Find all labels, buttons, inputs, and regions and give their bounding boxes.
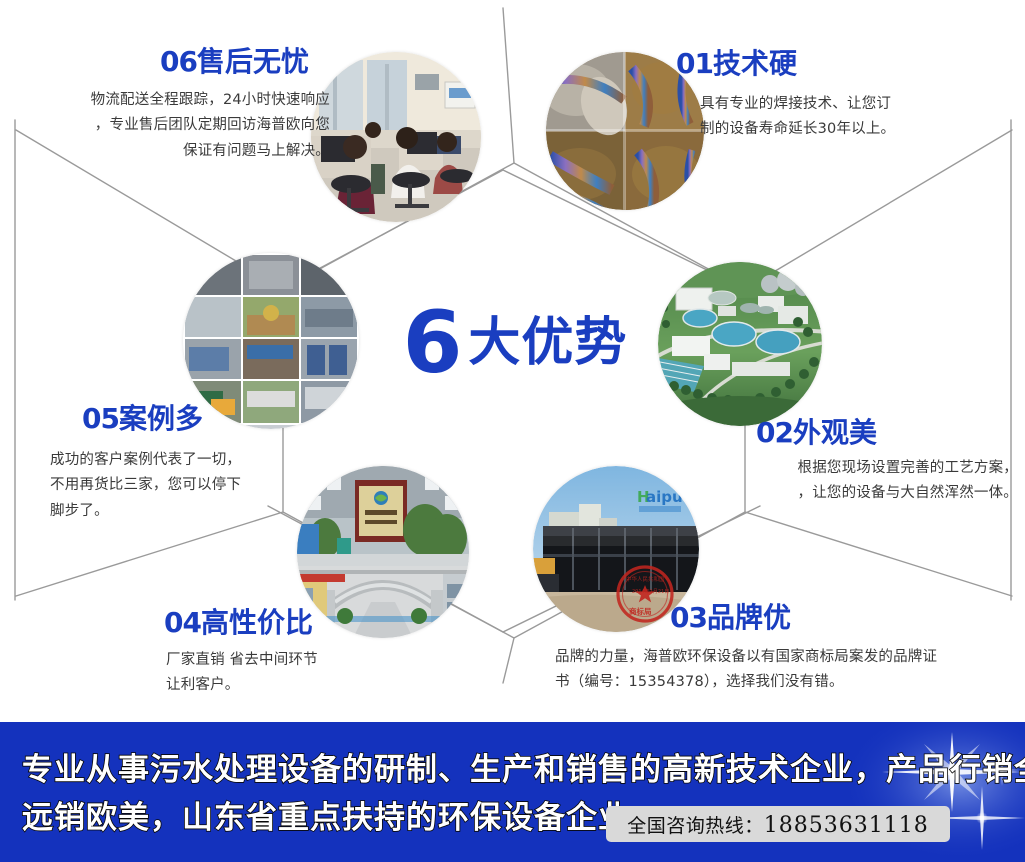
item-05-body-line: 不用再货比三家，您可以停下: [50, 473, 330, 498]
outer-edge-top-right: [745, 130, 1012, 289]
item-02-body-line: ，让您的设备与大自然浑然一体。: [700, 481, 1018, 506]
center-label: 大优势: [468, 317, 627, 369]
item-01-number: 01: [676, 47, 713, 80]
item-01-title: 01技术硬: [676, 50, 797, 78]
item-06-body: 物流配送全程跟踪，24小时快速响应 ，专业售后团队定期回访海普欧向您 保证有问题…: [10, 88, 330, 164]
photo-05-case-collage: [183, 253, 359, 429]
item-06-body-line: 保证有问题马上解决。: [10, 139, 330, 164]
item-03-body: 品牌的力量，海普欧环保设备以有国家商标局案发的品牌证 书（编号：15354378…: [555, 645, 1025, 696]
hotline-number: 18853631118: [764, 813, 929, 838]
item-02-body: 根据您现场设置完善的工艺方案， ，让您的设备与大自然浑然一体。: [700, 456, 1018, 507]
item-01-body: 具有专业的焊接技术、让您订 制的设备寿命延长30年以上。: [700, 92, 1020, 143]
hotline-box[interactable]: 全国咨询热线：18853631118: [606, 806, 950, 842]
photo-06-office: [311, 52, 481, 222]
item-04-body: 厂家直销 省去中间环节 让利客户。: [166, 648, 466, 699]
infographic-root: 6 大优势: [0, 0, 1025, 862]
item-04-label: 高性价比: [201, 606, 313, 639]
item-05-label: 案例多: [119, 402, 203, 435]
item-05-body-line: 成功的客户案例代表了一切，: [50, 448, 330, 473]
item-04-body-line: 让利客户。: [166, 673, 466, 698]
item-06-number: 06: [160, 45, 197, 78]
item-03-title: 03品牌优: [670, 604, 791, 632]
hotline-text: 全国咨询热线：18853631118: [627, 811, 928, 838]
center-headline: 6 大优势: [390, 288, 640, 398]
item-04-title: 04高性价比: [164, 609, 313, 637]
item-06-body-line: ，专业售后团队定期回访海普欧向您: [10, 113, 330, 138]
item-02-title: 02外观美: [756, 419, 877, 447]
outer-edge-bottom-right: [745, 512, 1012, 596]
item-02-body-line: 根据您现场设置完善的工艺方案，: [700, 456, 1018, 481]
item-01-body-line: 具有专业的焊接技术、让您订: [700, 92, 1020, 117]
item-06-title: 06售后无忧: [160, 48, 309, 76]
banner-line-1: 专业从事污水处理设备的研制、生产和销售的高新技术企业，产品行销全国并: [22, 746, 902, 794]
item-05-title: 05案例多: [82, 405, 203, 433]
outer-edge-bottom-left: [16, 512, 283, 596]
item-03-label: 品牌优: [707, 601, 791, 634]
item-03-number: 03: [670, 601, 707, 634]
item-06-label: 售后无忧: [197, 45, 309, 78]
svg-text:2014年1月21日: 2014年1月21日: [632, 588, 669, 595]
item-02-label: 外观美: [793, 416, 877, 449]
spoke-bottom: [503, 638, 514, 683]
svg-text:aipuou: aipuou: [646, 488, 699, 506]
hotline-label: 全国咨询热线：: [627, 815, 764, 837]
item-04-number: 04: [164, 606, 201, 639]
item-03-body-line: 品牌的力量，海普欧环保设备以有国家商标局案发的品牌证: [555, 645, 1025, 670]
item-06-body-line: 物流配送全程跟踪，24小时快速响应: [10, 88, 330, 113]
item-05-body-line: 脚步了。: [50, 499, 330, 524]
center-number: 6: [403, 300, 461, 386]
photo-04-factory-entrance: [297, 466, 469, 638]
svg-text:商标局: 商标局: [629, 606, 652, 616]
photo-02-aerial-plant: [658, 262, 822, 426]
item-01-label: 技术硬: [713, 47, 797, 80]
item-01-body-line: 制的设备寿命延长30年以上。: [700, 117, 1020, 142]
item-05-number: 05: [82, 402, 119, 435]
item-02-number: 02: [756, 416, 793, 449]
item-03-body-line: 书（编号：15354378），选择我们没有错。: [555, 670, 1025, 695]
item-05-body: 成功的客户案例代表了一切， 不用再货比三家，您可以停下 脚步了。: [50, 448, 330, 524]
svg-text:中华人民共和国: 中华人民共和国: [626, 575, 665, 583]
item-04-body-line: 厂家直销 省去中间环节: [166, 648, 466, 673]
spoke-top: [503, 8, 514, 163]
